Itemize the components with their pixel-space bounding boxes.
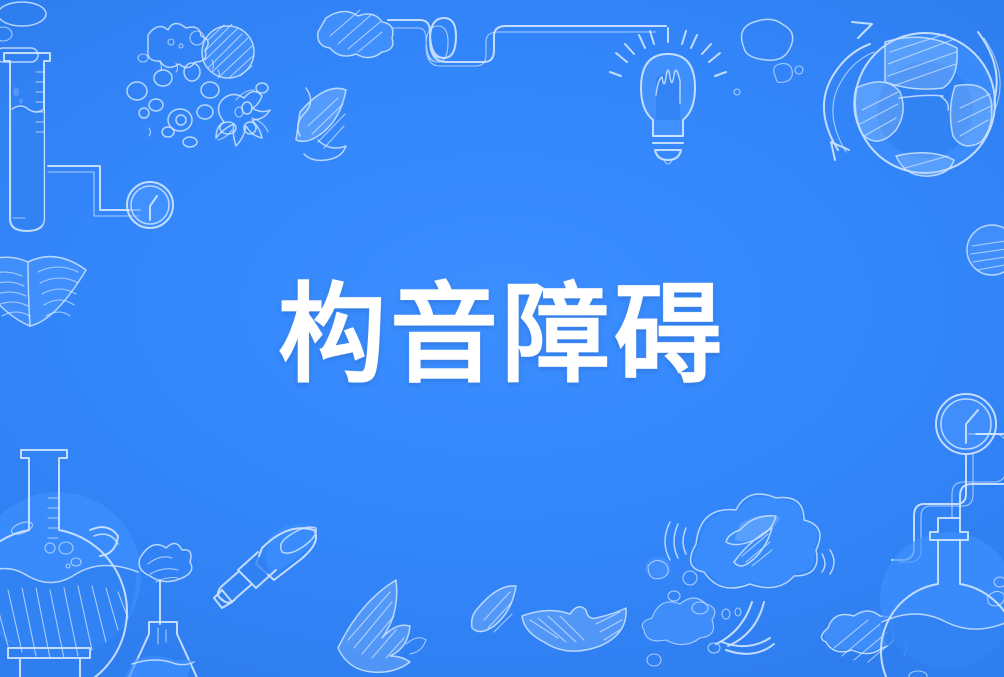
title-block: 构音障碍 [0,0,1004,677]
poster-canvas: 构音障碍 [0,0,1004,677]
page-title: 构音障碍 [278,282,726,396]
